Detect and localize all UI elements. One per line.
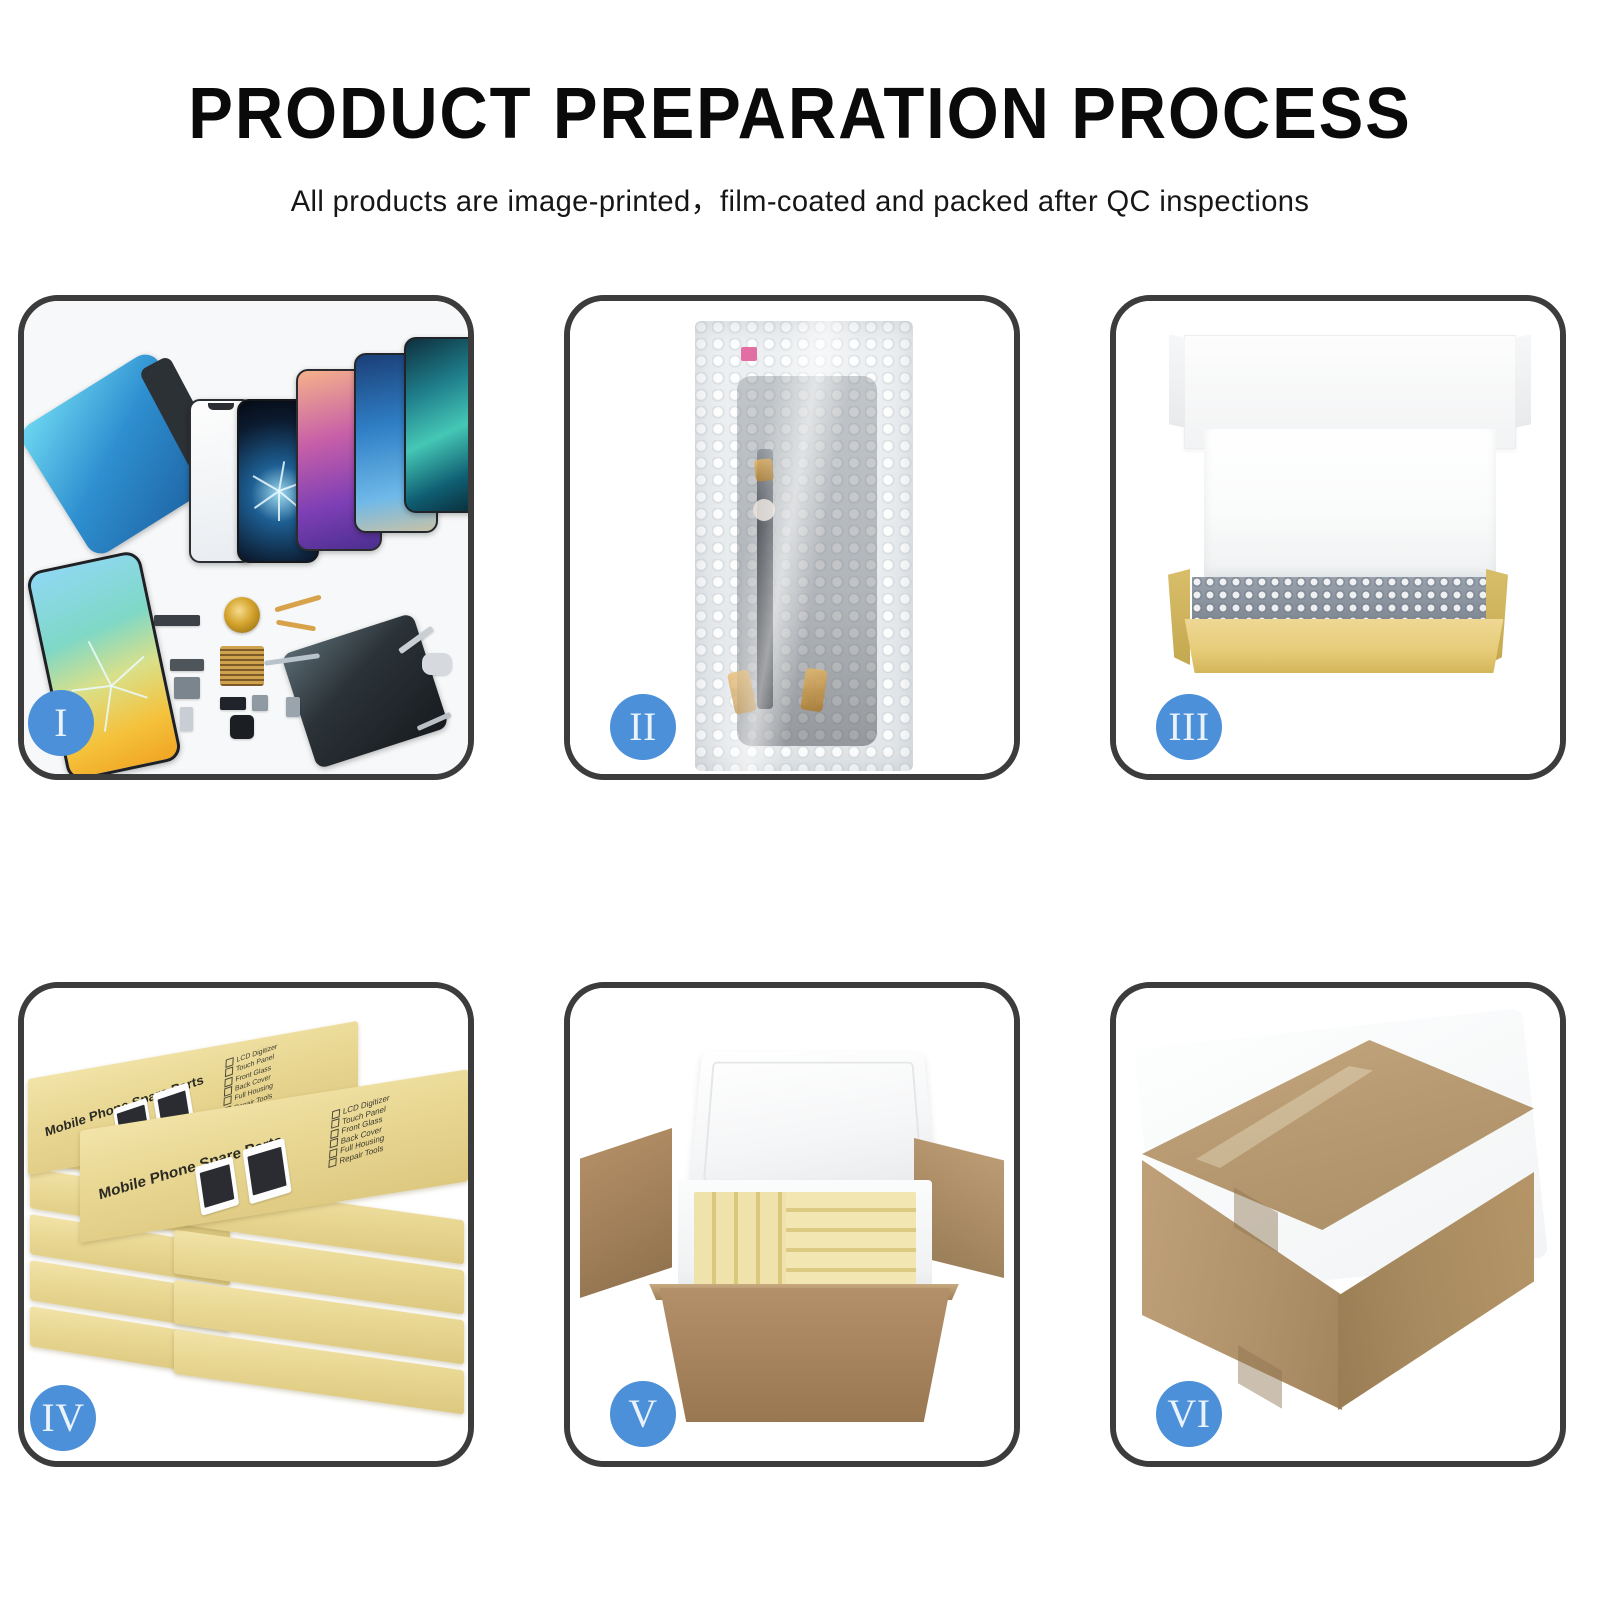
box-stack: Mobile Phone Spare Parts LCD Digitizer T… bbox=[24, 988, 468, 1461]
small-part-1 bbox=[170, 659, 204, 671]
step-badge-2: II bbox=[610, 694, 676, 760]
carton-flap-left bbox=[580, 1128, 672, 1298]
process-step-panel-1: I bbox=[18, 295, 474, 780]
battery-connector bbox=[286, 697, 300, 717]
retail-box-thumb-2b bbox=[242, 1138, 291, 1205]
retail-boxes-row-horizontal bbox=[786, 1192, 916, 1288]
phone-screen-teal bbox=[404, 337, 468, 513]
page-subtitle: All products are image-printed，film-coat… bbox=[24, 176, 1576, 220]
kraft-tray-left-flap bbox=[1168, 569, 1190, 665]
step-badge-3: III bbox=[1156, 694, 1222, 760]
speaker-mesh bbox=[154, 615, 200, 626]
process-step-panel-5: V bbox=[564, 982, 1020, 1467]
bag-sheen-highlight bbox=[695, 321, 913, 771]
step-badge-1: I bbox=[28, 690, 94, 756]
process-step-panel-6: VI bbox=[1110, 982, 1566, 1467]
spare-parts-collage-image bbox=[24, 301, 468, 774]
flex-cable-2 bbox=[276, 620, 316, 632]
process-step-panel-2: II bbox=[564, 295, 1020, 780]
wireless-charging-coil bbox=[224, 597, 260, 633]
retail-box-checklist-2: LCD Digitizer Touch Panel Front Glass Ba… bbox=[328, 1093, 390, 1169]
foam-sheet bbox=[1204, 429, 1496, 579]
bubble-wrap-bag bbox=[695, 321, 913, 771]
kraft-tray-front bbox=[1178, 619, 1510, 673]
small-part-2 bbox=[174, 677, 200, 699]
stacked-retail-boxes-image: Mobile Phone Spare Parts LCD Digitizer T… bbox=[24, 988, 468, 1461]
ic-chip bbox=[220, 646, 264, 686]
process-step-panel-4: Mobile Phone Spare Parts LCD Digitizer T… bbox=[18, 982, 474, 1467]
step-badge-4: IV bbox=[30, 1385, 96, 1451]
small-part-3 bbox=[220, 697, 246, 710]
retail-box-thumb-2a bbox=[195, 1156, 240, 1216]
small-part-4 bbox=[252, 695, 268, 711]
camera-module bbox=[230, 715, 254, 739]
page-title: PRODUCT PREPARATION PROCESS bbox=[56, 78, 1544, 150]
sim-tray bbox=[180, 707, 193, 731]
carton-front-panel bbox=[640, 1288, 970, 1422]
process-step-panel-3: III bbox=[1110, 295, 1566, 780]
brush-tool bbox=[422, 653, 452, 675]
step-badge-5: V bbox=[610, 1381, 676, 1447]
flex-cable-1 bbox=[274, 594, 322, 612]
step-badge-6: VI bbox=[1156, 1381, 1222, 1447]
process-step-grid: I II III bbox=[18, 295, 1566, 1467]
styrofoam-lid bbox=[689, 1051, 937, 1194]
page-header: PRODUCT PREPARATION PROCESS All products… bbox=[0, 0, 1600, 220]
